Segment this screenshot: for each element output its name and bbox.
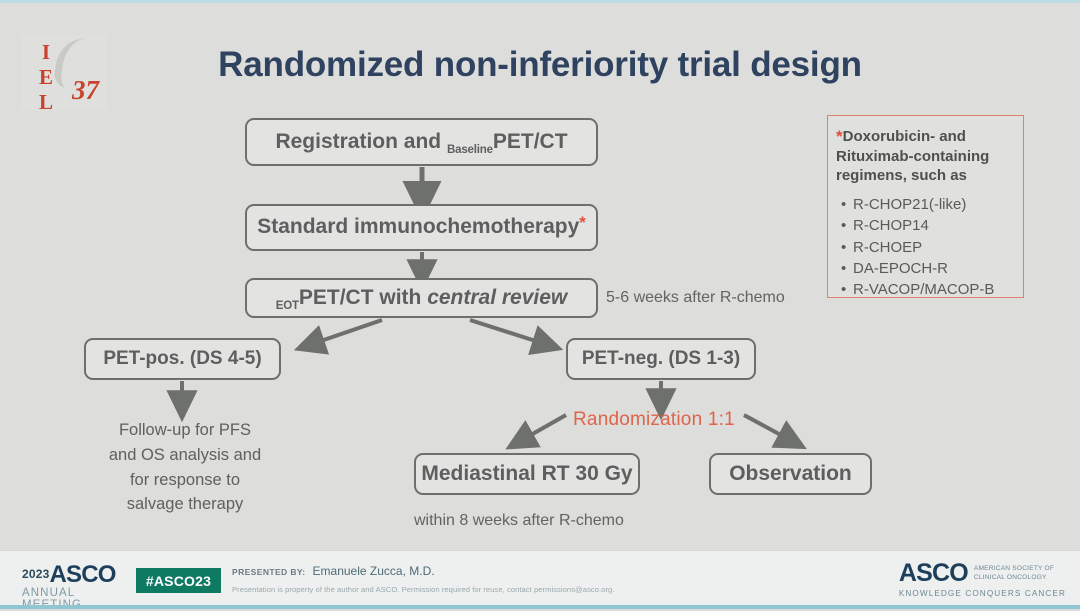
note-within-8-weeks: within 8 weeks after R-chemo: [414, 512, 624, 530]
note-weeks-after-rchemo: 5-6 weeks after R-chemo: [606, 289, 785, 307]
eot-subscript: EOT: [276, 300, 299, 312]
society-tagline: KNOWLEDGE CONQUERS CANCER: [899, 589, 1066, 598]
list-item: R-CHOP21(-like): [853, 194, 1017, 215]
label-randomization: Randomization 1:1: [573, 409, 735, 431]
society-asco-brand: ASCO: [899, 559, 968, 588]
footer-year: 2023: [22, 567, 50, 581]
asco-annual-meeting-logo: 2023ASCO ANNUAL MEETING: [22, 561, 127, 611]
asco-society-row: ASCO AMERICAN SOCIETY OF CLINICAL ONCOLO…: [899, 559, 1066, 588]
callout-list: R-CHOP21(-like) R-CHOP14 R-CHOEP DA-EPOC…: [836, 194, 1017, 300]
standard-text: Standard immunochemotherapy: [257, 215, 579, 238]
box-mediastinal-rt: Mediastinal RT 30 Gy: [414, 453, 640, 495]
eot-italic: central review: [427, 286, 567, 309]
box-pet-negative: PET-neg. (DS 1-3): [566, 338, 756, 380]
asco-hashtag-badge: #ASCO23: [136, 568, 221, 593]
box-standard-immunochemotherapy: Standard immunochemotherapy*: [245, 204, 598, 251]
society-line-2: CLINICAL ONCOLOGY: [974, 574, 1054, 582]
box-eot-petct: EOTPET/CT with central review: [245, 278, 598, 318]
followup-line: for response to: [95, 468, 275, 493]
registration-subscript: Baseline: [447, 144, 493, 156]
list-item: R-CHOEP: [853, 237, 1017, 258]
list-item: R-VACOP/MACOP-B: [853, 279, 1017, 300]
society-name: AMERICAN SOCIETY OF CLINICAL ONCOLOGY: [974, 565, 1054, 581]
bottom-edge-bar: [0, 605, 1080, 609]
callout-heading: *Doxorubicin- and Rituximab-containing r…: [836, 125, 1017, 185]
list-item: DA-EPOCH-R: [853, 258, 1017, 279]
presented-by-block: PRESENTED BY:Emanuele Zucca, M.D. Presen…: [232, 562, 614, 594]
presented-by-label: PRESENTED BY:: [232, 567, 306, 577]
top-edge-bar: [0, 0, 1080, 3]
page-title: Randomized non-inferiority trial design: [0, 45, 1080, 85]
standard-asterisk: *: [579, 213, 586, 232]
callout-asterisk: *: [836, 127, 843, 146]
box-pet-positive: PET-pos. (DS 4-5): [84, 338, 281, 380]
box-registration: Registration and BaselinePET/CT: [245, 118, 598, 166]
asco-society-logo: ASCO AMERICAN SOCIETY OF CLINICAL ONCOLO…: [899, 559, 1066, 598]
box-observation: Observation: [709, 453, 872, 495]
slide-canvas: IELSG 37 Randomized non-inferiority tria…: [0, 3, 1080, 551]
footer-asco-brand: ASCO: [50, 561, 116, 589]
followup-line: and OS analysis and: [95, 443, 275, 468]
footer-fine-print: Presentation is property of the author a…: [232, 585, 614, 594]
followup-line: Follow-up for PFS: [95, 418, 275, 443]
society-line-1: AMERICAN SOCIETY OF: [974, 565, 1054, 573]
eot-prefix: PET/CT with: [299, 286, 427, 309]
note-followup: Follow-up for PFS and OS analysis and fo…: [95, 418, 275, 517]
callout-heading-text: Doxorubicin- and Rituximab-containing re…: [836, 128, 989, 184]
presenter-name: Emanuele Zucca, M.D.: [313, 564, 435, 578]
list-item: R-CHOP14: [853, 215, 1017, 236]
registration-suffix: PET/CT: [493, 130, 568, 153]
followup-line: salvage therapy: [95, 492, 275, 517]
registration-prefix: Registration and: [275, 130, 447, 153]
regimens-callout: *Doxorubicin- and Rituximab-containing r…: [827, 115, 1024, 298]
